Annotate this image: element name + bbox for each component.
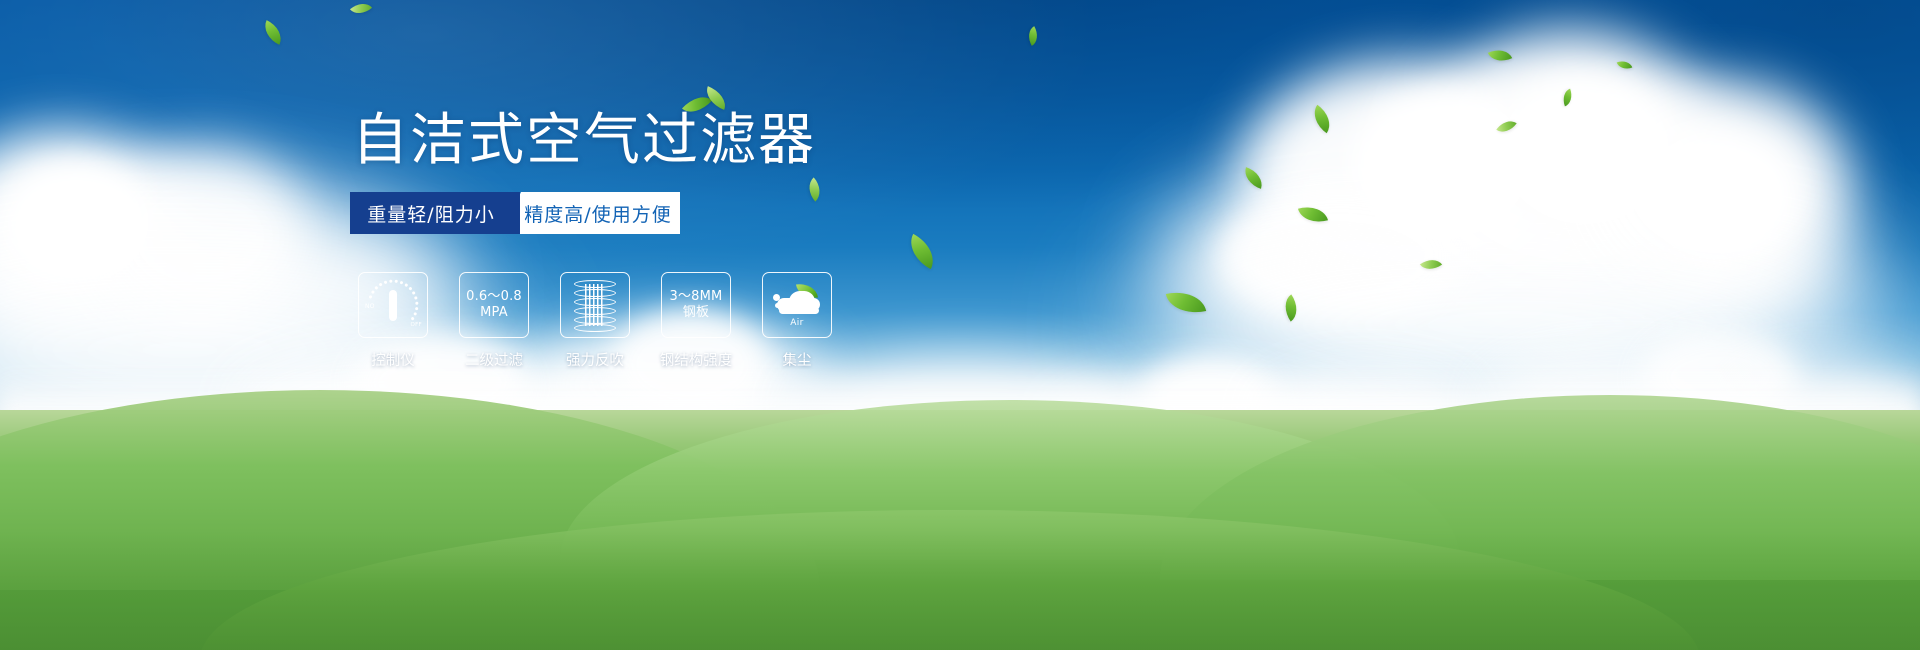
tab-precision-convenience[interactable]: 精度高/使用方便 [502,192,680,234]
steel-material: 钢板 [670,305,723,321]
gauge-label-off: OFF [410,322,422,328]
gauge-icon: NO OFF [366,281,420,329]
feature-item-controller[interactable]: NO OFF 控制仪 [358,272,428,370]
coil-icon [574,280,616,330]
feature-box: NO OFF [358,272,428,338]
feature-label: 集尘 [783,349,812,370]
feature-box: 0.6～0.8 MPA [459,272,529,338]
feature-box: 3～8MM 钢板 [661,272,731,338]
feature-item-pressure[interactable]: 0.6～0.8 MPA 二级过滤 [459,272,529,370]
feature-list: NO OFF 控制仪 0.6～0.8 MPA 二级过滤 [358,272,832,370]
tab-weight-resistance[interactable]: 重量轻/阻力小 [350,192,520,234]
feature-item-blowback[interactable]: 强力反吹 [560,272,630,370]
feature-label: 二级过滤 [465,349,523,370]
feature-box [560,272,630,338]
gauge-needle [389,290,397,321]
feature-item-dust[interactable]: Air 集尘 [762,272,832,370]
banner-content: 自洁式空气过滤器 重量轻/阻力小 精度高/使用方便 [0,0,1920,650]
feature-box: Air [762,272,832,338]
page-title: 自洁式空气过滤器 [352,113,816,169]
steel-plate-icon: 3～8MM 钢板 [670,289,723,321]
feature-label: 控制仪 [371,349,415,370]
feature-label: 强力反吹 [566,349,624,370]
steel-thickness: 3～8MM [670,289,723,305]
pressure-unit: MPA [466,305,522,321]
tagline-tabs: 重量轻/阻力小 精度高/使用方便 [350,192,680,234]
feature-item-steel[interactable]: 3～8MM 钢板 钢结构强度 [661,272,731,370]
pressure-value: 0.6～0.8 [466,289,522,305]
air-cloud-icon: Air [773,285,821,325]
air-label: Air [773,318,821,328]
pressure-icon: 0.6～0.8 MPA [466,289,522,321]
gauge-label-no: NO [365,303,375,310]
feature-label: 钢结构强度 [660,349,733,370]
hero-banner: 自洁式空气过滤器 重量轻/阻力小 精度高/使用方便 [0,0,1920,650]
